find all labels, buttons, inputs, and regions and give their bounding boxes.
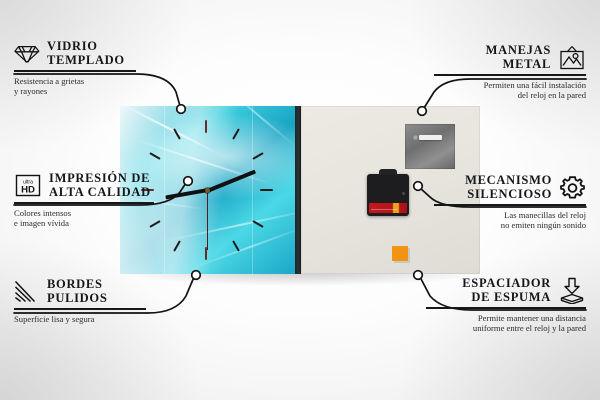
feature-divider (434, 204, 586, 206)
feature-title-line2: ALTA CALIDAD (49, 186, 151, 200)
diamond-icon (14, 42, 40, 66)
clock-center-hub (205, 188, 210, 193)
feature-description-line1: Superficie lisa y segura (14, 314, 156, 325)
feature-divider (14, 202, 154, 204)
feature-description-line1: Permite mantener una distancia (426, 313, 586, 324)
feature-title-line2: METAL (486, 58, 551, 72)
feature-title-line1: IMPRESIÓN DE (49, 172, 151, 186)
feature-description-line2: del reloj en la pared (434, 90, 586, 101)
product-image (120, 106, 480, 274)
feature-title-line2: TEMPLADO (47, 54, 125, 68)
feature-header: ultra HD IMPRESIÓN DE ALTA CALIDAD (14, 172, 164, 199)
feature-manejas-metal: MANEJAS METAL Permiten una fácil instala… (434, 44, 586, 101)
feature-description-line2: y rayones (14, 86, 146, 97)
feature-description-line2: uniforme entre el reloj y la pared (426, 323, 586, 334)
feature-divider (434, 74, 586, 76)
feature-description-line1: Las manecillas del reloj (434, 210, 586, 221)
feature-title-line1: ESPACIADOR (462, 277, 551, 291)
picture-frame-icon (558, 45, 586, 71)
feature-description-line1: Colores intensos (14, 208, 164, 219)
feature-title-line1: VIDRIO (47, 40, 125, 54)
feature-description-line1: Resistencia a grietas (14, 76, 146, 87)
feature-header: ESPACIADOR DE ESPUMA (426, 277, 586, 304)
infographic-canvas: VIDRIO TEMPLADO Resistencia a grietas y … (0, 0, 600, 400)
feature-mecanismo-silencioso: MECANISMO SILENCIOSO Las manecillas del … (434, 174, 586, 231)
foam-spacer-pad (392, 246, 408, 261)
feature-title-line2: DE ESPUMA (462, 291, 551, 305)
ultra-hd-icon: ultra HD (14, 173, 42, 198)
feature-header: VIDRIO TEMPLADO (14, 40, 146, 67)
feature-description-line2: no emiten ningún sonido (434, 220, 586, 231)
polished-edge-icon (14, 280, 40, 304)
clock-tick (205, 120, 207, 133)
feature-title-line1: MANEJAS (486, 44, 551, 58)
clock-mechanism-box (367, 174, 409, 216)
feature-divider (14, 308, 146, 310)
foam-spacer-icon (558, 277, 586, 304)
feature-espaciador-espuma: ESPACIADOR DE ESPUMA Permite mantener un… (426, 277, 586, 334)
metal-hanger-plate (405, 124, 455, 169)
gear-icon (559, 175, 586, 201)
feature-description-line1: Permiten una fácil instalación (434, 80, 586, 91)
clock-tick (260, 189, 273, 191)
feature-header: BORDES PULIDOS (14, 278, 156, 305)
feature-title-line2: SILENCIOSO (465, 188, 552, 202)
feature-title-line1: BORDES (47, 278, 107, 292)
clock-second-hand (207, 190, 208, 250)
feature-impresion-alta-calidad: ultra HD IMPRESIÓN DE ALTA CALIDAD Color… (14, 172, 164, 229)
feature-title-line1: MECANISMO (465, 174, 552, 188)
feature-divider (426, 307, 586, 309)
feature-description-line2: e imagen vívida (14, 218, 164, 229)
feature-divider (14, 70, 136, 72)
feature-title-line2: PULIDOS (47, 292, 107, 306)
feature-vidrio-templado: VIDRIO TEMPLADO Resistencia a grietas y … (14, 40, 146, 97)
feature-bordes-pulidos: BORDES PULIDOS Superficie lisa y segura (14, 278, 156, 324)
feature-header: MECANISMO SILENCIOSO (434, 174, 586, 201)
feature-header: MANEJAS METAL (434, 44, 586, 71)
svg-text:HD: HD (21, 185, 35, 196)
